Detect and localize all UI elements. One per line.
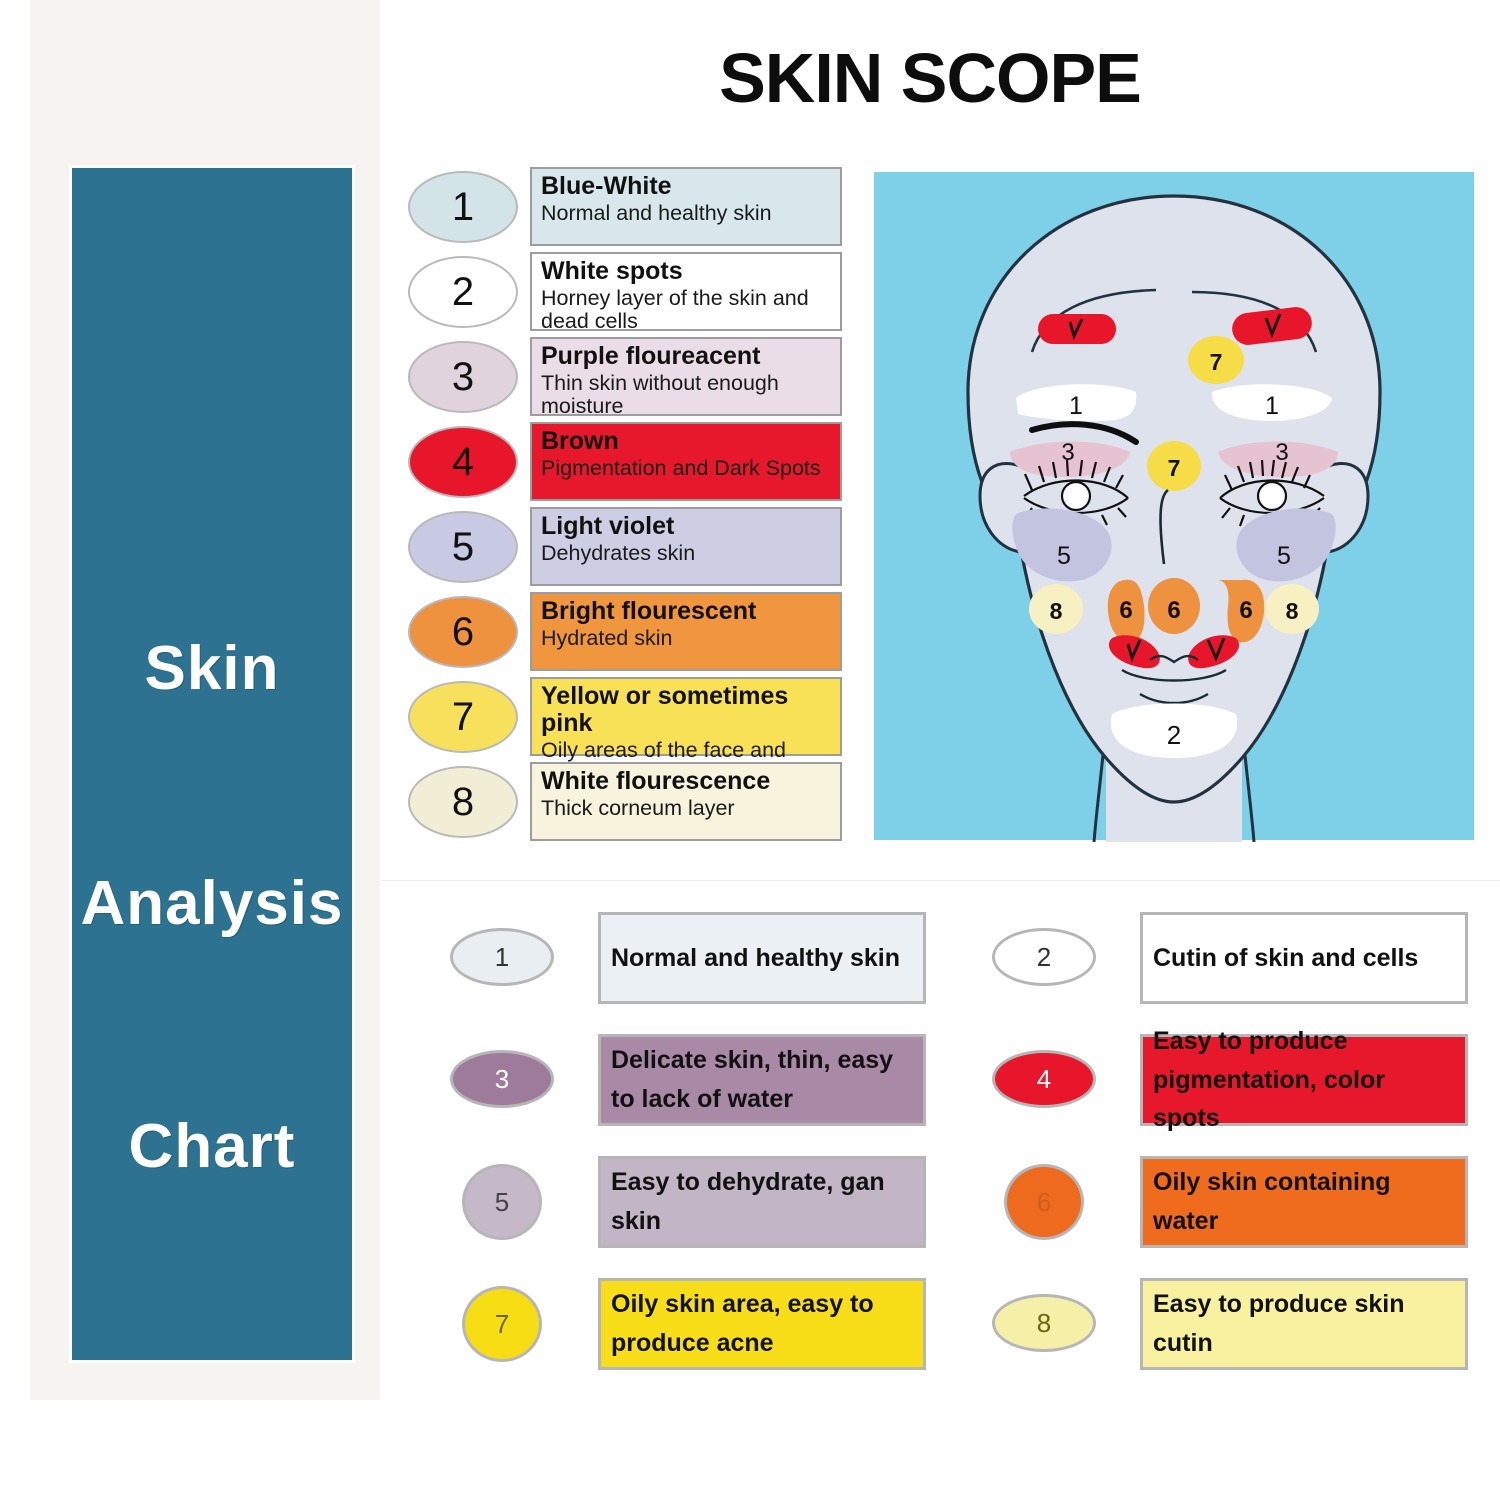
legend-box-3: Purple floureacentThin skin without enou… (530, 337, 842, 416)
bottom-box-1: Normal and healthy skin (598, 912, 926, 1004)
bottom-text-7: Oily skin area, easy to produce acne (611, 1285, 913, 1363)
legend-row: 1Blue-WhiteNormal and healthy skin (400, 165, 850, 250)
page-title: SKIN SCOPE (390, 38, 1470, 118)
legend-box-5: Light violetDehydrates skin (530, 507, 842, 586)
bottom-oval-5: 5 (462, 1164, 542, 1240)
zone-label-8-right: 8 (1286, 598, 1299, 624)
legend-box-4: BrownPigmentation and Dark Spots (530, 422, 842, 501)
bottom-text-6: Oily skin containing water (1153, 1163, 1455, 1241)
zone-label-6-tip: 6 (1167, 597, 1180, 624)
left-panel: Skin Analysis Chart (30, 0, 380, 1400)
face-diagram: 7 1 1 3 3 7 (868, 166, 1480, 848)
legend-row: 7Yellow or sometimes pinkOily areas of t… (400, 675, 850, 760)
legend-oval-4: 4 (408, 426, 518, 498)
bottom-oval-3: 3 (450, 1050, 554, 1108)
bottom-box-7: Oily skin area, easy to produce acne (598, 1278, 926, 1370)
legend-title-7: Yellow or sometimes pink (541, 683, 840, 737)
legend-box-6: Bright flourescentHydrated skin (530, 592, 842, 671)
zone-label-5-left: 5 (1057, 542, 1071, 570)
bottom-oval-8: 8 (992, 1294, 1096, 1352)
bottom-oval-2: 2 (992, 928, 1096, 986)
legend-title-2: White spots (541, 258, 840, 285)
legend-row: 2White spotsHorney layer of the skin and… (400, 250, 850, 335)
bottom-box-5: Easy to dehydrate, gan skin (598, 1156, 926, 1248)
legend-desc-3: Thin skin without enough moisture (541, 372, 840, 418)
sidebar-title-panel: Skin Analysis Chart (72, 168, 352, 1360)
legend-box-2: White spotsHorney layer of the skin and … (530, 252, 842, 331)
legend-desc-1: Normal and healthy skin (541, 202, 840, 225)
bottom-box-6: Oily skin containing water (1140, 1156, 1468, 1248)
legend-oval-1: 1 (408, 171, 518, 243)
zone-label-2-chin: 2 (1167, 720, 1181, 750)
bottom-row: 8Easy to produce skin cutin (992, 1278, 1470, 1390)
bottom-text-2: Cutin of skin and cells (1153, 939, 1418, 978)
bottom-row: 1Normal and healthy skin (450, 912, 928, 1024)
bottom-text-3: Delicate skin, thin, easy to lack of wat… (611, 1041, 913, 1119)
bottom-oval-4: 4 (992, 1050, 1096, 1108)
legend-title-8: White flourescence (541, 768, 840, 795)
zone-label-5-right: 5 (1277, 542, 1291, 570)
bottom-row: 4Easy to produce pigmentation, color spo… (992, 1034, 1470, 1146)
zone-label-1-left: 1 (1069, 392, 1083, 420)
legend-oval-5: 5 (408, 511, 518, 583)
zone-label-7-forehead: 7 (1210, 349, 1223, 375)
zone-label-6-left: 6 (1119, 597, 1132, 624)
legend-box-7: Yellow or sometimes pinkOily areas of th… (530, 677, 842, 756)
zone-label-8-left: 8 (1050, 598, 1063, 624)
legend-row: 5Light violetDehydrates skin (400, 505, 850, 590)
sidebar-word-analysis: Analysis (72, 873, 352, 935)
bottom-text-1: Normal and healthy skin (611, 939, 900, 978)
bottom-row: 5Easy to dehydrate, gan skin (450, 1156, 928, 1268)
bottom-box-2: Cutin of skin and cells (1140, 912, 1468, 1004)
legend-desc-2: Horney layer of the skin and dead cells (541, 287, 840, 333)
legend-box-1: Blue-WhiteNormal and healthy skin (530, 167, 842, 246)
legend-box-8: White flourescenceThick corneum layer (530, 762, 842, 841)
zone-label-3-right: 3 (1275, 439, 1288, 466)
bottom-oval-1: 1 (450, 928, 554, 986)
legend-desc-5: Dehydrates skin (541, 542, 840, 565)
legend-oval-3: 3 (408, 341, 518, 413)
bottom-row: 7Oily skin area, easy to produce acne (450, 1278, 928, 1390)
legend-title-5: Light violet (541, 513, 840, 540)
bottom-text-4: Easy to produce pigmentation, color spot… (1153, 1022, 1455, 1138)
legend-title-1: Blue-White (541, 173, 840, 200)
zone-label-7-bridge: 7 (1168, 455, 1181, 481)
sidebar-word-skin: Skin (72, 638, 352, 700)
legend-row: 6Bright flourescentHydrated skin (400, 590, 850, 675)
sidebar-word-chart: Chart (72, 1116, 352, 1178)
bottom-text-8: Easy to produce skin cutin (1153, 1285, 1455, 1363)
legend-row: 3Purple floureacentThin skin without eno… (400, 335, 850, 420)
legend-oval-7: 7 (408, 681, 518, 753)
zone-label-1-right: 1 (1265, 392, 1279, 420)
legend-desc-6: Hydrated skin (541, 627, 840, 650)
legend-desc-8: Thick corneum layer (541, 797, 840, 820)
legend-desc-4: Pigmentation and Dark Spots (541, 457, 840, 480)
legend-oval-8: 8 (408, 766, 518, 838)
bottom-oval-6: 6 (1004, 1164, 1084, 1240)
legend-oval-2: 2 (408, 256, 518, 328)
legend-row: 4BrownPigmentation and Dark Spots (400, 420, 850, 505)
legend-title-3: Purple floureacent (541, 343, 840, 370)
bottom-box-8: Easy to produce skin cutin (1140, 1278, 1468, 1370)
bottom-chart: 1Normal and healthy skin2Cutin of skin a… (450, 912, 1470, 1382)
bottom-box-3: Delicate skin, thin, easy to lack of wat… (598, 1034, 926, 1126)
bottom-row: 2Cutin of skin and cells (992, 912, 1470, 1024)
bottom-row: 6Oily skin containing water (992, 1156, 1470, 1268)
bottom-row: 3Delicate skin, thin, easy to lack of wa… (450, 1034, 928, 1146)
zone-label-6-right: 6 (1239, 597, 1252, 624)
section-divider (382, 880, 1500, 881)
legend-title-6: Bright flourescent (541, 598, 840, 625)
legend-row: 8White flourescenceThick corneum layer (400, 760, 850, 845)
legend-title-4: Brown (541, 428, 840, 455)
bottom-box-4: Easy to produce pigmentation, color spot… (1140, 1034, 1468, 1126)
bottom-text-5: Easy to dehydrate, gan skin (611, 1163, 913, 1241)
legend-oval-6: 6 (408, 596, 518, 668)
bottom-oval-7: 7 (462, 1286, 542, 1362)
legend-list: 1Blue-WhiteNormal and healthy skin2White… (400, 165, 850, 845)
